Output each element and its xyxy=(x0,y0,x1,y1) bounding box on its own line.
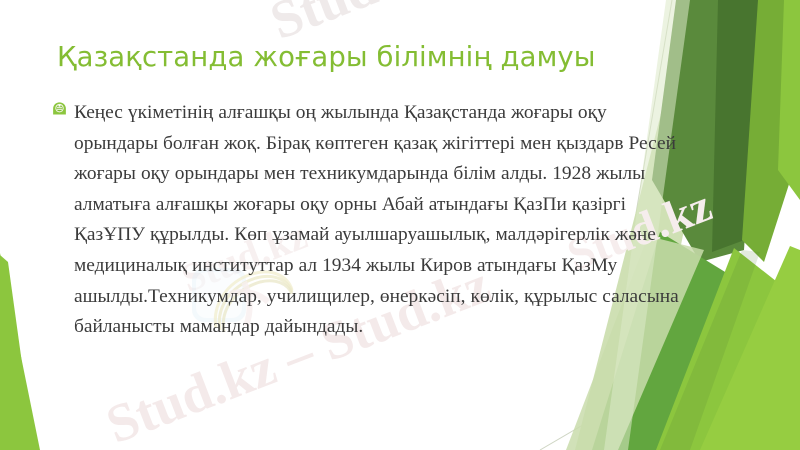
lower-right-light-green xyxy=(700,246,800,450)
body-paragraph: Кеңес үкіметінің алғашқы оң жылында Қаза… xyxy=(52,98,682,343)
green-emoji-bullet-icon xyxy=(52,101,67,116)
body-text: Кеңес үкіметінің алғашқы оң жылында Қаза… xyxy=(74,98,682,343)
slide-body: Кеңес үкіметінің алғашқы оң жылында Қаза… xyxy=(52,98,682,343)
left-green-wedge xyxy=(0,253,40,450)
presentation-slide: Stud.kz – Stud. Stud.kz – Stud.kz Stud.k… xyxy=(0,0,800,450)
right-band-deepdark xyxy=(712,0,762,252)
slide-title: Қазақстанда жоғары білімнің дамуы xyxy=(57,40,697,74)
right-band-bright xyxy=(778,0,800,200)
left-green-wedge-body xyxy=(0,255,34,450)
right-band-mid xyxy=(742,0,800,262)
